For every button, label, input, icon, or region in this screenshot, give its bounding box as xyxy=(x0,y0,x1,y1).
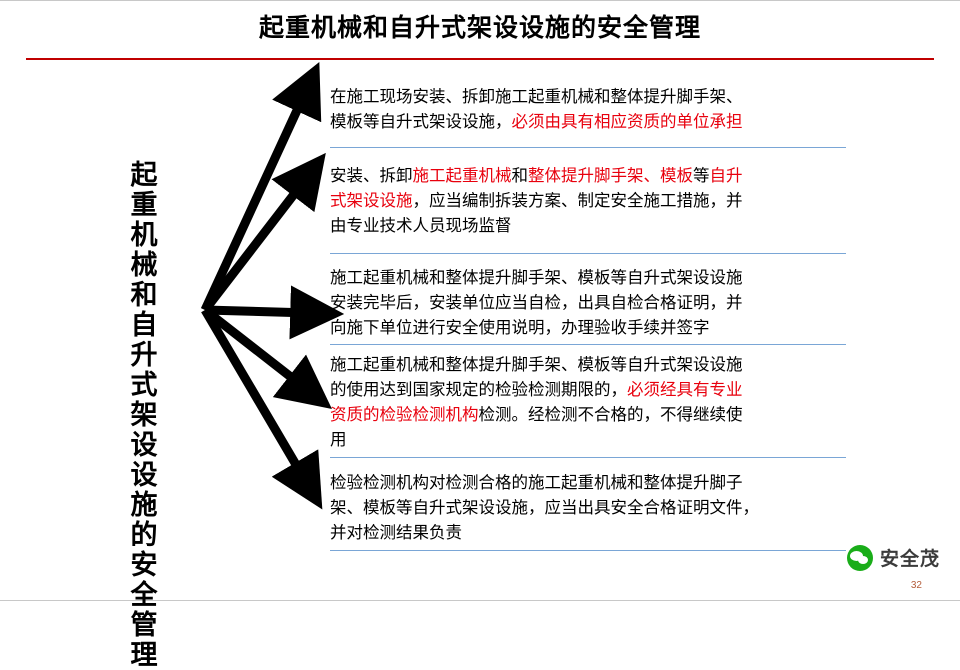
watermark-logo: 安全茂 xyxy=(847,544,940,571)
left-label-char: 设 xyxy=(118,460,170,490)
left-vertical-label: 起 重 机 械 和 自 升 式 架 设 设 施 的 安 全 管 理 xyxy=(118,160,170,670)
text-run: 施工起重机械和整体提升脚手架、模板等自升式架设设施 xyxy=(330,355,743,374)
content-block-5: 检验检测机构对检测合格的施工起重机械和整体提升脚子 架、模板等自升式架设设施，应… xyxy=(330,470,850,545)
left-label-char: 架 xyxy=(118,400,170,430)
content-block-2: 安装、拆卸施工起重机械和整体提升脚手架、模板等自升 式架设设施，应当编制拆装方案… xyxy=(330,163,850,238)
arrow-to-item-5 xyxy=(205,310,305,480)
left-label-char: 械 xyxy=(118,250,170,280)
slide-top-edge xyxy=(0,0,960,4)
text-run: 安装、拆卸 xyxy=(330,166,413,185)
slide-title: 起重机械和自升式架设设施的安全管理 xyxy=(0,12,960,46)
arrow-to-item-1 xyxy=(205,93,305,310)
content-line: 检验检测机构对检测合格的施工起重机械和整体提升脚子 xyxy=(330,470,850,495)
divider-3 xyxy=(330,344,846,345)
left-label-char: 升 xyxy=(118,340,170,370)
text-run: 等 xyxy=(693,166,710,185)
text-run: 施工起重机械和整体提升脚手架、模板等自升式架设设施 xyxy=(330,268,743,287)
left-label-char: 和 xyxy=(118,280,170,310)
text-run: 的使用达到国家规定的检验检测期限的， xyxy=(330,380,627,399)
divider-1 xyxy=(330,147,846,148)
text-run: 检验检测机构对检测合格的施工起重机械和整体提升脚子 xyxy=(330,473,743,492)
left-label-char: 施 xyxy=(118,490,170,520)
left-label-char: 起 xyxy=(118,160,170,190)
text-run: 用 xyxy=(330,430,347,449)
page-number: 32 xyxy=(911,580,922,591)
content-block-1: 在施工现场安装、拆卸施工起重机械和整体提升脚手架、 模板等自升式架设设施，必须由… xyxy=(330,84,850,134)
content-block-3: 施工起重机械和整体提升脚手架、模板等自升式架设设施 安装完毕后，安装单位应当自检… xyxy=(330,265,850,340)
arrow-to-item-4 xyxy=(205,310,305,388)
divider-5 xyxy=(330,550,846,551)
arrow-to-item-2 xyxy=(205,180,305,310)
divider-4 xyxy=(330,457,846,458)
content-line: 向施下单位进行安全使用说明，办理验收手续并签字 xyxy=(330,315,850,340)
content-line: 用 xyxy=(330,427,850,452)
text-run-emphasis: 自升 xyxy=(710,166,743,185)
text-run: 架、模板等自升式架设设施，应当出具安全合格证明文件， xyxy=(330,498,759,517)
content-line: 由专业技术人员现场监督 xyxy=(330,213,850,238)
left-label-char: 机 xyxy=(118,220,170,250)
content-line: 安装、拆卸施工起重机械和整体提升脚手架、模板等自升 xyxy=(330,163,850,188)
text-run-emphasis: 资质的检验检测机构 xyxy=(330,405,479,424)
content-line: 施工起重机械和整体提升脚手架、模板等自升式架设设施 xyxy=(330,265,850,290)
text-run: 模板等自升式架设设施， xyxy=(330,112,512,131)
text-run-emphasis: 整体提升脚手架、模板 xyxy=(528,166,693,185)
left-label-char: 理 xyxy=(118,640,170,670)
text-run-emphasis: 必须经具有专业 xyxy=(627,380,743,399)
left-label-char: 重 xyxy=(118,190,170,220)
text-run: 和 xyxy=(512,166,529,185)
left-label-char: 安 xyxy=(118,550,170,580)
text-run-emphasis: 必须由具有相应资质的单位承担 xyxy=(512,112,743,131)
divider-2 xyxy=(330,253,846,254)
slide-root: 起重机械和自升式架设设施的安全管理 起 重 机 械 和 自 升 式 架 设 设 … xyxy=(0,0,960,601)
left-label-char: 全 xyxy=(118,580,170,610)
wechat-icon xyxy=(847,545,873,571)
content-line: 的使用达到国家规定的检验检测期限的，必须经具有专业 xyxy=(330,377,850,402)
content-line: 施工起重机械和整体提升脚手架、模板等自升式架设设施 xyxy=(330,352,850,377)
title-underline-rule xyxy=(26,58,934,60)
content-line: 资质的检验检测机构检测。经检测不合格的，不得继续使 xyxy=(330,402,850,427)
text-run: 并对检测结果负责 xyxy=(330,523,462,542)
slide-title-text: 起重机械和自升式架设设施的安全管理 xyxy=(0,12,960,46)
content-line: 并对检测结果负责 xyxy=(330,520,850,545)
left-label-char: 管 xyxy=(118,610,170,640)
logo-label: 安全茂 xyxy=(880,544,940,571)
left-label-char: 自 xyxy=(118,310,170,340)
content-line: 式架设设施，应当编制拆装方案、制定安全施工措施，并 xyxy=(330,188,850,213)
text-run: 向施下单位进行安全使用说明，办理验收手续并签字 xyxy=(330,318,710,337)
content-line: 模板等自升式架设设施，必须由具有相应资质的单位承担 xyxy=(330,109,850,134)
text-run: 检测。经检测不合格的，不得继续使 xyxy=(479,405,743,424)
content-block-4: 施工起重机械和整体提升脚手架、模板等自升式架设设施 的使用达到国家规定的检验检测… xyxy=(330,352,850,452)
text-run: 由专业技术人员现场监督 xyxy=(330,216,512,235)
left-label-char: 的 xyxy=(118,520,170,550)
content-line: 安装完毕后，安装单位应当自检，出具自检合格证明，并 xyxy=(330,290,850,315)
arrow-to-item-3 xyxy=(205,310,310,313)
text-run: 安装完毕后，安装单位应当自检，出具自检合格证明，并 xyxy=(330,293,743,312)
content-line: 架、模板等自升式架设设施，应当出具安全合格证明文件， xyxy=(330,495,850,520)
text-run: ，应当编制拆装方案、制定安全施工措施，并 xyxy=(413,191,743,210)
text-run-emphasis: 式架设设施 xyxy=(330,191,413,210)
text-run: 在施工现场安装、拆卸施工起重机械和整体提升脚手架、 xyxy=(330,87,743,106)
left-label-char: 设 xyxy=(118,430,170,460)
left-label-char: 式 xyxy=(118,370,170,400)
text-run-emphasis: 施工起重机械 xyxy=(413,166,512,185)
content-line: 在施工现场安装、拆卸施工起重机械和整体提升脚手架、 xyxy=(330,84,850,109)
